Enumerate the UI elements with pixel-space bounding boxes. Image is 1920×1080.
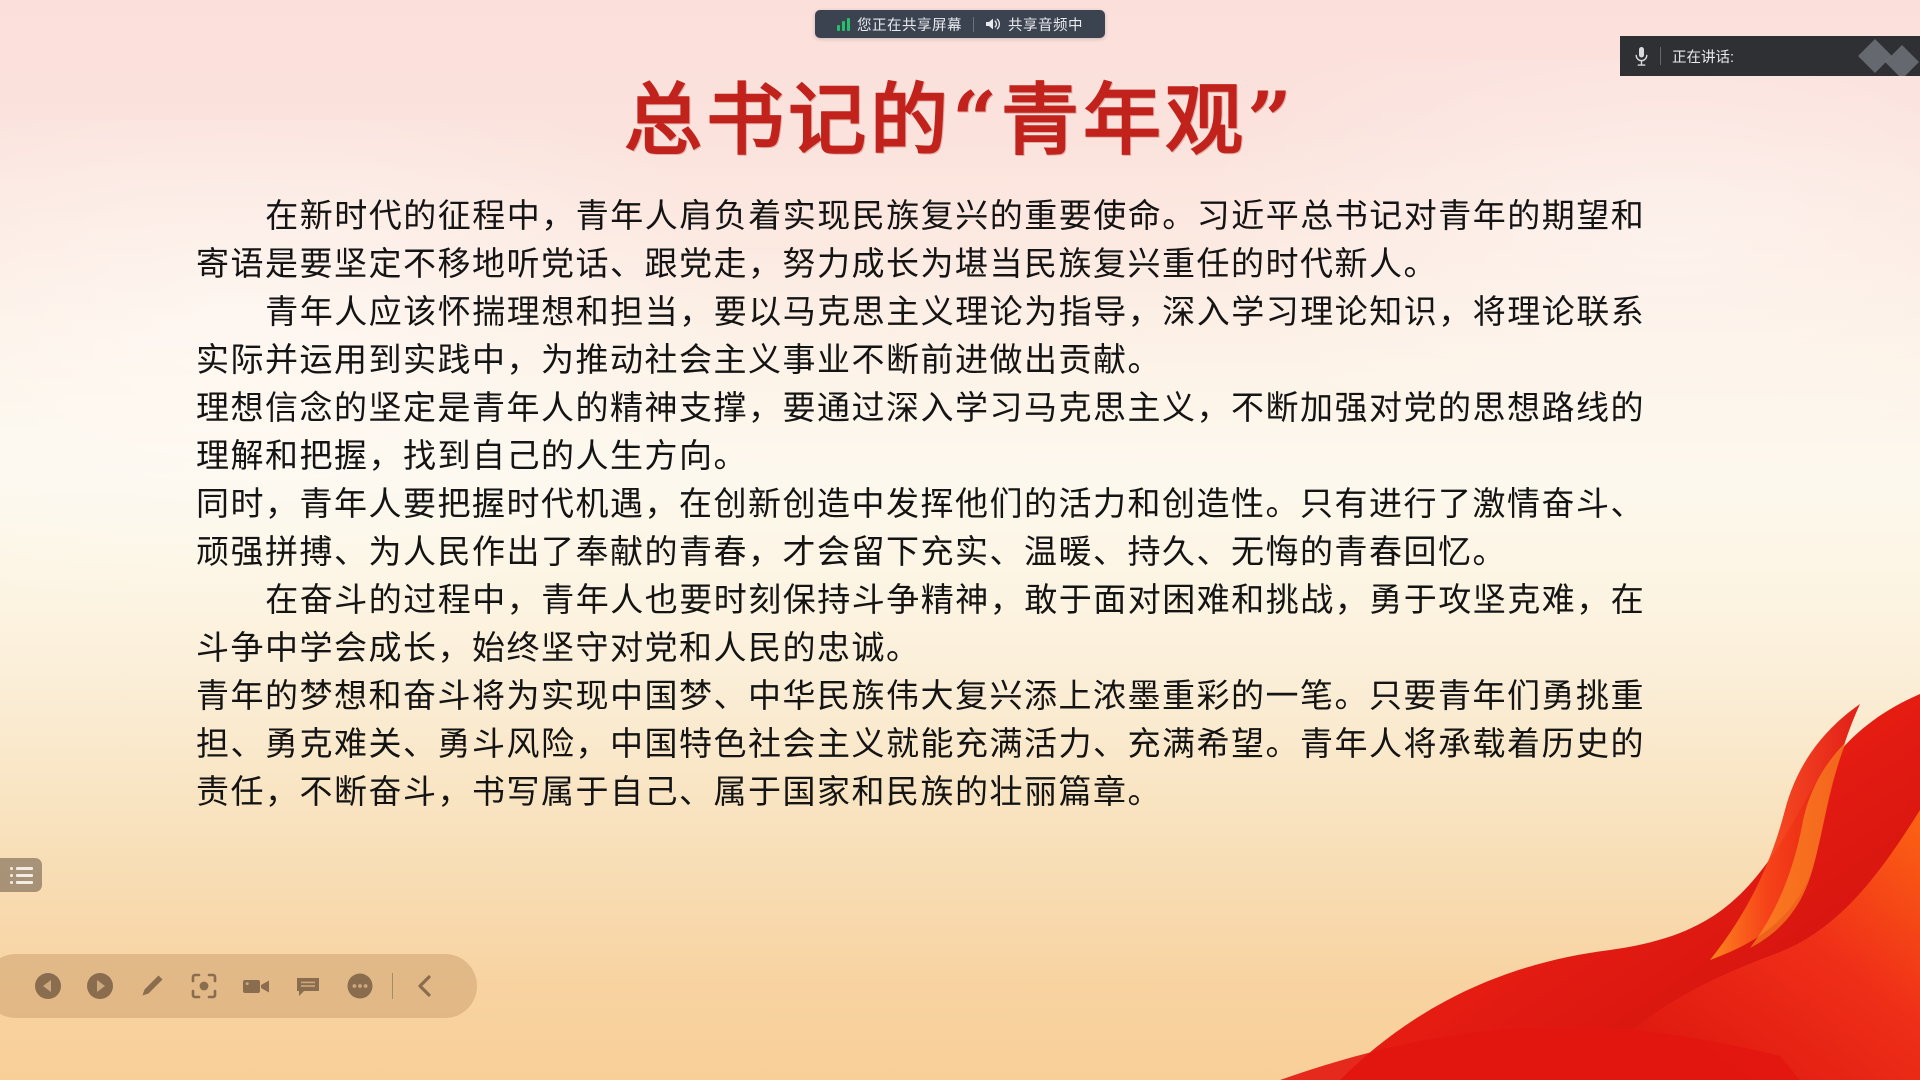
screenshot-button[interactable] (178, 954, 230, 1018)
banner-divider (973, 17, 974, 32)
chat-icon (294, 972, 322, 1000)
signal-bars-icon (837, 18, 850, 31)
screen-share-banner: 您正在共享屏幕 共享音频中 (815, 10, 1105, 38)
record-video-icon (241, 972, 271, 1000)
next-slide-icon (86, 972, 114, 1000)
paragraph: 青年的梦想和奋斗将为实现中国梦、中华民族伟大复兴添上浓墨重彩的一笔。只要青年们勇… (196, 672, 1666, 816)
presentation-toolbar (0, 954, 477, 1018)
paragraph: 同时，青年人要把握时代机遇，在创新创造中发挥他们的活力和创造性。只有进行了激情奋… (196, 480, 1666, 576)
screen-share-label: 您正在共享屏幕 (857, 14, 962, 35)
chat-button[interactable] (282, 954, 334, 1018)
collapse-toolbar-button[interactable] (399, 954, 451, 1018)
paragraph: 在奋斗的过程中，青年人也要时刻保持斗争精神，敢于面对困难和挑战，勇于攻坚克难，在… (196, 576, 1666, 672)
previous-slide-button[interactable] (22, 954, 74, 1018)
slide-list-button[interactable] (0, 858, 42, 892)
pen-button[interactable] (126, 954, 178, 1018)
speaker-icon (985, 17, 1001, 31)
audio-share-label: 共享音频中 (1008, 14, 1083, 35)
pen-icon (138, 972, 166, 1000)
screen-share-status: 您正在共享屏幕 (829, 14, 970, 35)
screenshot-icon (190, 972, 218, 1000)
next-slide-button[interactable] (74, 954, 126, 1018)
paragraph: 青年人应该怀揣理想和担当，要以马克思主义理论为指导，深入学习理论知识，将理论联系… (196, 288, 1666, 384)
page-title: 总书记的“青年观” (0, 58, 1920, 170)
audio-share-status: 共享音频中 (977, 14, 1091, 35)
paragraph: 在新时代的征程中，青年人肩负着实现民族复兴的重要使命。习近平总书记对青年的期望和… (196, 192, 1666, 288)
collapse-left-icon (413, 973, 437, 999)
more-options-icon (346, 972, 374, 1000)
toolbar-divider (392, 973, 393, 999)
list-icon (10, 867, 33, 884)
previous-slide-icon (34, 972, 62, 1000)
presentation-slide: 您正在共享屏幕 共享音频中 正在讲话: 总书记的“青年观” 在新时代的征程中，青… (0, 0, 1920, 1080)
more-options-button[interactable] (334, 954, 386, 1018)
record-video-button[interactable] (230, 954, 282, 1018)
paragraph: 理想信念的坚定是青年人的精神支撑，要通过深入学习马克思主义，不断加强对党的思想路… (196, 384, 1666, 480)
slide-body-text: 在新时代的征程中，青年人肩负着实现民族复兴的重要使命。习近平总书记对青年的期望和… (196, 192, 1666, 816)
